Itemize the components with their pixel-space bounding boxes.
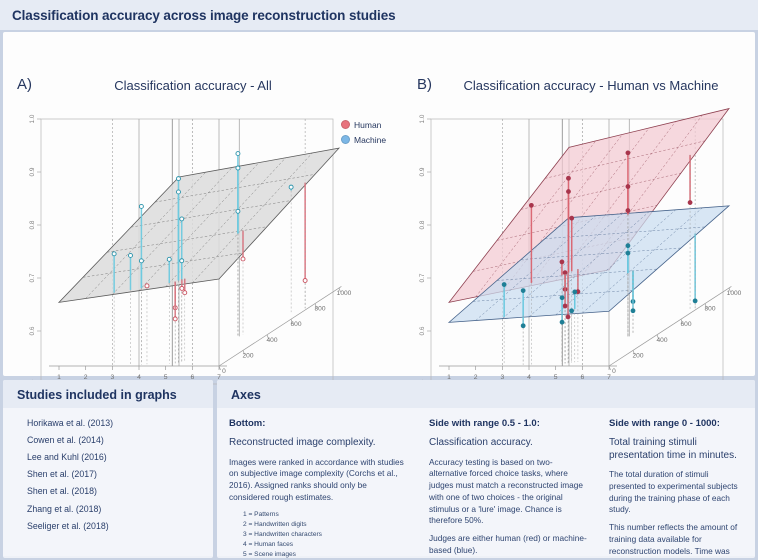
studies-heading: Studies included in graphs [3, 380, 213, 408]
axes-accuracy-para-1: Accuracy testing is based on two-alterna… [429, 457, 587, 528]
axes-accuracy-subheading: Side with range 0.5 - 1.0: [429, 418, 587, 429]
list-item: Seeliger et al. (2018) [15, 517, 201, 534]
panel-b-tag: B) [417, 76, 432, 93]
svg-text:0: 0 [222, 368, 226, 375]
list-item: 5 = Scene images [243, 550, 407, 558]
charts-panel: A) Classification accuracy - All B) Clas… [3, 32, 755, 376]
svg-text:0.8: 0.8 [29, 220, 36, 229]
svg-text:600: 600 [290, 321, 301, 328]
studies-card: Studies included in graphs Horikawa et a… [3, 380, 213, 558]
axes-col-bottom: Bottom: Reconstructed image complexity. … [217, 412, 417, 556]
panel-b-title: Classification accuracy - Human vs Machi… [441, 78, 741, 93]
page-header: Classification accuracy across image rec… [0, 0, 758, 30]
page-title: Classification accuracy across image rec… [12, 8, 396, 23]
svg-text:0.9: 0.9 [29, 167, 36, 176]
panel-a-title: Classification accuracy - All [63, 78, 323, 93]
plot-a-canvas: 0.50.60.70.80.91.01234567020040060080010… [11, 94, 371, 394]
svg-text:200: 200 [242, 352, 253, 359]
svg-text:400: 400 [266, 337, 277, 344]
list-item: Cowen et al. (2014) [15, 431, 201, 448]
axes-heading: Axes [217, 380, 755, 408]
svg-text:200: 200 [632, 352, 643, 359]
list-item: Zhang et al. (2018) [15, 500, 201, 517]
list-item: 3 = Handwritten characters [243, 530, 407, 540]
axes-bottom-subheading: Bottom: [229, 418, 407, 429]
plot-b-canvas: 0.50.60.70.80.91.01234567020040060080010… [401, 94, 758, 394]
axes-bottom-lead: Reconstructed image complexity. [229, 437, 407, 450]
screenshot-root: Classification accuracy across image rec… [0, 0, 758, 560]
axes-col-time: Side with range 0 - 1000: Total training… [597, 412, 755, 556]
axes-time-subheading: Side with range 0 - 1000: [609, 418, 745, 429]
svg-text:0.7: 0.7 [419, 273, 426, 282]
svg-text:0.6: 0.6 [419, 326, 426, 335]
svg-text:1000: 1000 [727, 290, 742, 297]
axes-accuracy-para-2: Judges are either human (red) or machine… [429, 533, 587, 557]
axes-accuracy-lead: Classification accuracy. [429, 437, 587, 450]
list-item: Horikawa et al. (2013) [15, 414, 201, 431]
axes-time-lead: Total training stimuli presentation time… [609, 437, 745, 462]
svg-text:1.0: 1.0 [29, 114, 36, 123]
svg-text:1.0: 1.0 [419, 114, 426, 123]
info-cards-row: Studies included in graphs Horikawa et a… [3, 380, 755, 558]
svg-text:1000: 1000 [337, 290, 352, 297]
svg-text:600: 600 [680, 321, 691, 328]
svg-text:0.8: 0.8 [419, 220, 426, 229]
axes-body: Bottom: Reconstructed image complexity. … [217, 408, 755, 556]
list-item: Shen et al. (2017) [15, 466, 201, 483]
svg-text:0.9: 0.9 [419, 167, 426, 176]
studies-list: Horikawa et al. (2013)Cowen et al. (2014… [3, 408, 213, 556]
axes-card: Axes Bottom: Reconstructed image complex… [217, 380, 755, 558]
svg-text:0.7: 0.7 [29, 273, 36, 282]
list-item: 1 = Patterns [243, 510, 407, 520]
axes-bottom-para: Images were ranked in accordance with st… [229, 457, 407, 504]
axes-col-accuracy: Side with range 0.5 - 1.0: Classificatio… [417, 412, 597, 556]
list-item: Shen et al. (2018) [15, 483, 201, 500]
svg-text:800: 800 [314, 306, 325, 313]
complexity-rank-list: 1 = Patterns2 = Handwritten digits3 = Ha… [229, 510, 407, 558]
list-item: 4 = Human faces [243, 540, 407, 550]
list-item: 2 = Handwritten digits [243, 520, 407, 530]
axes-time-para-2: This number reflects the amount of train… [609, 522, 745, 558]
svg-text:0.6: 0.6 [29, 326, 36, 335]
svg-text:800: 800 [704, 306, 715, 313]
svg-text:400: 400 [656, 337, 667, 344]
panel-a-tag: A) [17, 76, 32, 93]
svg-text:0: 0 [612, 368, 616, 375]
axes-time-para-1: The total duration of stimuli presented … [609, 469, 745, 516]
list-item: Lee and Kuhl (2016) [15, 448, 201, 465]
